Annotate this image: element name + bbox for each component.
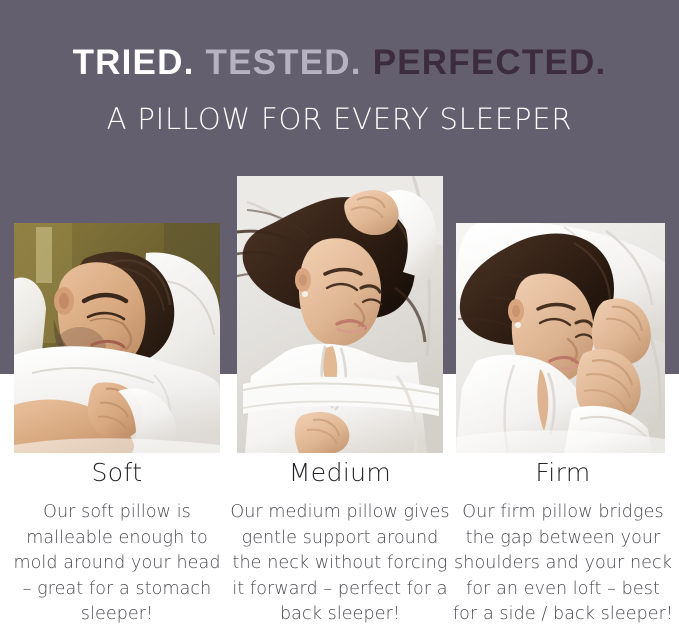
headline-word-tried: TRIED.	[73, 44, 195, 82]
headline: TRIED.TESTED.PERFECTED.	[0, 44, 679, 82]
column-firm: Firm Our firm pillow bridges the gap bet…	[452, 458, 674, 628]
column-soft: Soft Our soft pillow is malleable enough…	[10, 458, 224, 628]
headline-word-perfected: PERFECTED.	[373, 44, 607, 82]
photo-firm-illustration	[456, 223, 665, 453]
photo-soft-illustration	[14, 223, 220, 453]
photo-medium-illustration	[237, 176, 443, 453]
column-body-medium: Our medium pillow gives gentle support a…	[230, 500, 450, 628]
infographic-canvas: TRIED.TESTED.PERFECTED. A PILLOW FOR EVE…	[0, 0, 679, 643]
column-body-soft: Our soft pillow is malleable enough to m…	[10, 500, 224, 628]
column-title-medium: Medium	[230, 458, 450, 488]
headline-word-tested: TESTED.	[206, 44, 362, 82]
column-medium: Medium Our medium pillow gives gentle su…	[230, 458, 450, 628]
subheadline: A PILLOW FOR EVERY SLEEPER	[0, 103, 679, 135]
column-title-firm: Firm	[452, 458, 674, 488]
photo-soft	[14, 223, 220, 453]
photo-firm	[456, 223, 665, 453]
photo-medium	[237, 176, 443, 453]
column-body-firm: Our firm pillow bridges the gap between …	[452, 500, 674, 628]
column-title-soft: Soft	[10, 458, 224, 488]
